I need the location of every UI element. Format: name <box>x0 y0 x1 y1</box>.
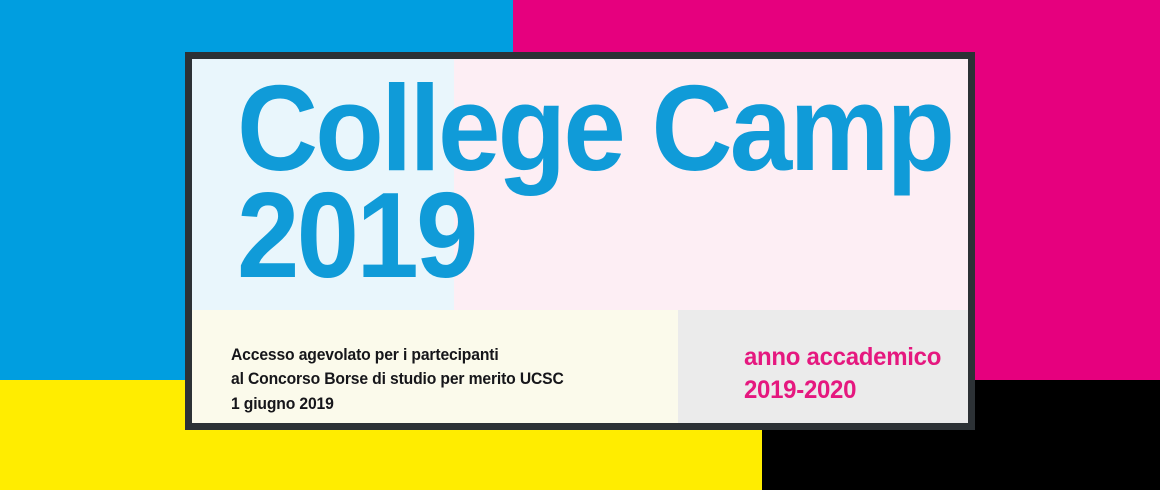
academic-year-label: anno accademico <box>744 341 941 374</box>
academic-year-block: anno accademico 2019-2020 <box>744 341 941 407</box>
panel-grey: anno accademico 2019-2020 <box>678 310 968 423</box>
panel-light-pink <box>454 59 968 310</box>
blurb-line-3: 1 giugno 2019 <box>231 392 564 416</box>
panel-light-blue <box>192 59 454 310</box>
blurb-text: Accesso agevolato per i partecipanti al … <box>231 343 564 416</box>
poster-canvas: College Camp 2019 Accesso agevolato per … <box>0 0 1160 490</box>
blurb-line-1: Accesso agevolato per i partecipanti <box>231 343 564 367</box>
card-bottom-section: Accesso agevolato per i partecipanti al … <box>192 310 968 423</box>
panel-cream: Accesso agevolato per i partecipanti al … <box>192 310 678 423</box>
academic-year-value: 2019-2020 <box>744 374 941 407</box>
poster-card: College Camp 2019 Accesso agevolato per … <box>185 52 975 430</box>
card-top-section: College Camp 2019 <box>192 59 968 310</box>
blurb-line-2: al Concorso Borse di studio per merito U… <box>231 367 564 391</box>
